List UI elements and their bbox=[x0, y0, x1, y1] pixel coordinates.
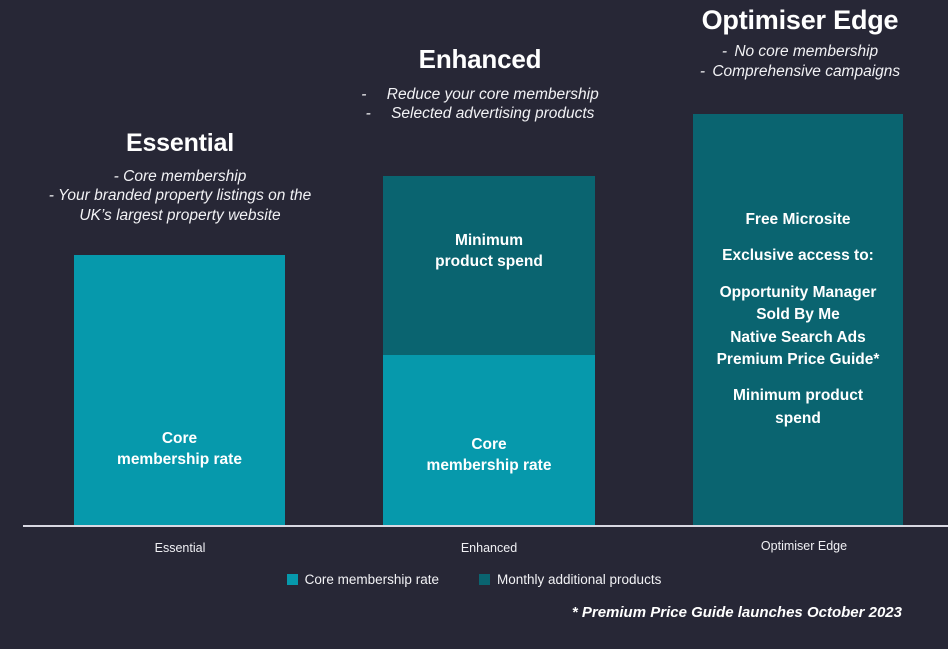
x-axis-line bbox=[23, 525, 948, 527]
legend-item-core-membership-rate[interactable]: Core membership rate bbox=[287, 572, 439, 587]
bullet-dash: - bbox=[114, 167, 119, 187]
legend-item-monthly-additional-products[interactable]: Monthly additional products bbox=[479, 572, 661, 587]
bullet-text: Reduce your core membership bbox=[387, 86, 599, 103]
bar-segment-label: Minimum product spend bbox=[435, 231, 543, 273]
chart-legend: Core membership rate Monthly additional … bbox=[0, 572, 948, 587]
bar-segment-label: Free Microsite Exclusive access to: Oppo… bbox=[717, 209, 880, 431]
bullet-dash: - bbox=[49, 186, 54, 206]
x-axis-label-enhanced: Enhanced bbox=[413, 541, 565, 555]
bar-segment-label: Core membership rate bbox=[427, 435, 552, 477]
legend-swatch-icon bbox=[287, 574, 298, 585]
bullet-text: No core membership bbox=[734, 43, 878, 60]
column-header-enhanced: Enhanced - Reduce your core membership -… bbox=[330, 45, 630, 124]
bar-segment-optimiser-edge-monthly-products[interactable]: Free Microsite Exclusive access to: Oppo… bbox=[693, 114, 903, 525]
column-header-essential: Essential - Core membership - Your brand… bbox=[40, 130, 320, 226]
bullet-dash: - bbox=[722, 42, 727, 62]
column-title-enhanced: Enhanced bbox=[330, 45, 630, 74]
legend-label: Core membership rate bbox=[305, 572, 439, 587]
column-title-optimiser-edge: Optimiser Edge bbox=[655, 6, 945, 36]
legend-label: Monthly additional products bbox=[497, 572, 661, 587]
bullet-text: Core membership bbox=[123, 168, 246, 185]
bullet-dash: - bbox=[361, 85, 366, 105]
x-axis-label-optimiser-edge: Optimiser Edge bbox=[728, 539, 880, 553]
chart-canvas: Essential - Core membership - Your brand… bbox=[0, 0, 948, 649]
bullet-text: Selected advertising products bbox=[391, 105, 594, 122]
bar-segment-enhanced-core-membership[interactable]: Core membership rate bbox=[383, 355, 595, 525]
bar-segment-essential-core-membership[interactable]: Core membership rate bbox=[74, 255, 285, 525]
bar-segment-enhanced-monthly-products[interactable]: Minimum product spend bbox=[383, 176, 595, 355]
bar-segment-label: Core membership rate bbox=[117, 429, 242, 471]
column-bullets-optimiser-edge: - No core membership - Comprehensive cam… bbox=[655, 42, 945, 82]
column-bullets-enhanced: - Reduce your core membership - Selected… bbox=[330, 85, 630, 125]
bullet-dash: - bbox=[700, 62, 705, 82]
chart-footnote: * Premium Price Guide launches October 2… bbox=[572, 604, 902, 621]
column-title-essential: Essential bbox=[40, 130, 320, 158]
column-bullets-essential: - Core membership - Your branded propert… bbox=[40, 167, 320, 226]
column-header-optimiser-edge: Optimiser Edge - No core membership - Co… bbox=[655, 6, 945, 81]
x-axis-label-essential: Essential bbox=[104, 541, 256, 555]
bullet-text: Comprehensive campaigns bbox=[712, 63, 900, 80]
legend-swatch-icon bbox=[479, 574, 490, 585]
bullet-dash: - bbox=[366, 104, 371, 124]
bullet-text: Your branded property listings on the UK… bbox=[58, 187, 311, 224]
